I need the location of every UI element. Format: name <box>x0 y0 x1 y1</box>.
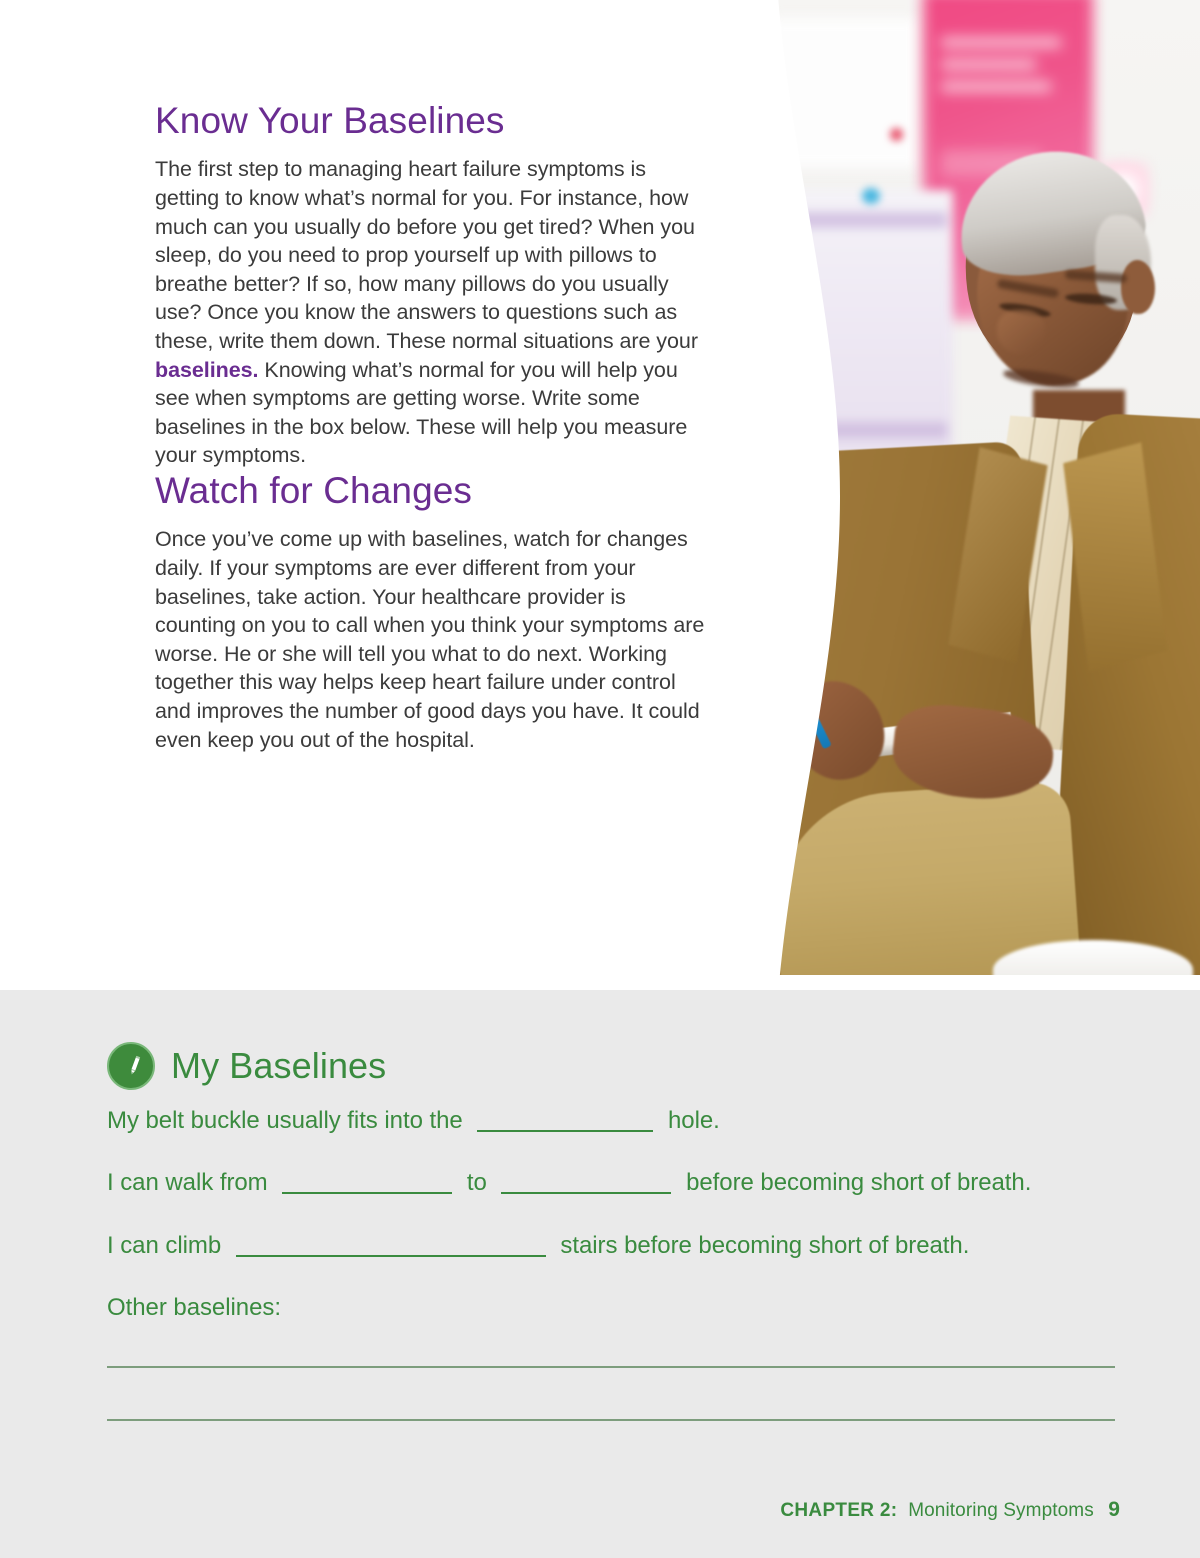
baselines-keyword: baselines. <box>155 358 258 382</box>
worksheet-title: My Baselines <box>171 1048 386 1084</box>
photo-bottom-strip <box>0 975 1200 990</box>
form-row-belt-buckle: My belt buckle usually fits into the hol… <box>107 1108 1117 1134</box>
climb-label-after: stairs before becoming short of breath. <box>560 1232 969 1259</box>
section1-paragraph-lead: The first step to managing heart failure… <box>155 157 698 353</box>
form-row-other-baselines: Other baselines: <box>107 1295 1117 1321</box>
form-row-climb-stairs: I can climb stairs before becoming short… <box>107 1233 1117 1259</box>
write-in-line-2[interactable] <box>107 1419 1115 1421</box>
worksheet-header: My Baselines <box>107 1042 386 1090</box>
belt-buckle-label-before: My belt buckle usually fits into the <box>107 1107 463 1134</box>
walk-label-before: I can walk from <box>107 1169 268 1196</box>
nose <box>997 310 1045 354</box>
walk-to-blank-input[interactable] <box>501 1170 671 1194</box>
page-footer: CHAPTER 2: Monitoring Symptoms 9 <box>780 1498 1120 1522</box>
climb-label-before: I can climb <box>107 1232 221 1259</box>
photo-curve-mask <box>700 0 840 990</box>
page-title: Know Your Baselines <box>155 100 707 141</box>
belt-buckle-label-after: hole. <box>668 1107 720 1134</box>
ear <box>1121 260 1155 314</box>
walk-from-blank-input[interactable] <box>282 1170 452 1194</box>
climb-stairs-blank-input[interactable] <box>236 1233 546 1257</box>
section1-paragraph: The first step to managing heart failure… <box>155 155 707 470</box>
footer-chapter-title-text: Monitoring Symptoms <box>908 1500 1094 1521</box>
article-text-column: Know Your Baselines The first step to ma… <box>155 100 707 754</box>
write-in-lines <box>107 1366 1115 1472</box>
document-page: Know Your Baselines The first step to ma… <box>0 0 1200 1558</box>
section2-paragraph: Once you’ve come up with baselines, watc… <box>155 525 707 754</box>
pencil-icon <box>107 1042 155 1090</box>
worksheet-form: My belt buckle usually fits into the hol… <box>107 1108 1117 1358</box>
walk-label-after: before becoming short of breath. <box>686 1169 1031 1196</box>
top-content-area: Know Your Baselines The first step to ma… <box>0 0 1200 990</box>
section2-title: Watch for Changes <box>155 470 707 511</box>
other-baselines-label: Other baselines: <box>107 1294 281 1321</box>
form-row-walk-distance: I can walk from to before becoming short… <box>107 1170 1117 1196</box>
write-in-line-1[interactable] <box>107 1366 1115 1368</box>
walk-label-middle: to <box>467 1169 487 1196</box>
footer-chapter-label: CHAPTER 2: <box>780 1500 897 1521</box>
belt-buckle-blank-input[interactable] <box>477 1108 653 1132</box>
my-baselines-worksheet: My Baselines My belt buckle usually fits… <box>0 990 1200 1558</box>
footer-page-number: 9 <box>1108 1498 1120 1521</box>
